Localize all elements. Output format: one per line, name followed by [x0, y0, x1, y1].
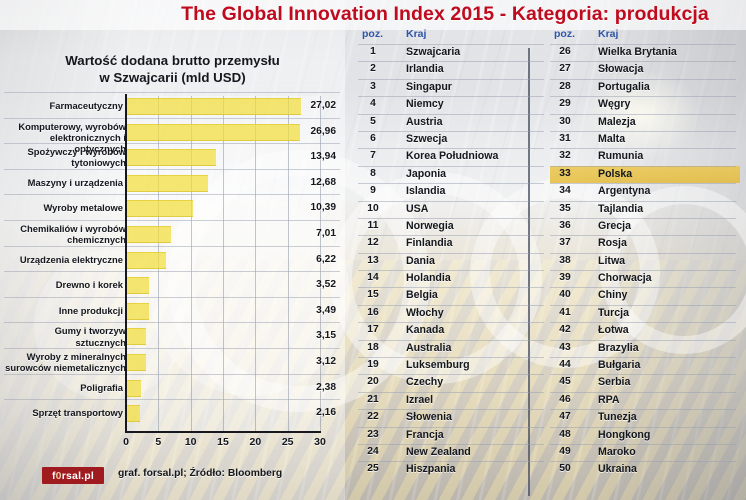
rank-position: 20: [358, 376, 388, 387]
x-axis: [125, 431, 321, 433]
bar-value-label: 3,52: [288, 279, 336, 290]
rank-country: Japonia: [406, 168, 446, 180]
x-tick-label: 30: [314, 436, 326, 448]
ranking-row[interactable]: 23Francja: [358, 427, 548, 444]
row-separator: [4, 246, 340, 247]
page-title: The Global Innovation Index 2015 - Kateg…: [150, 3, 740, 26]
bar: [126, 328, 146, 345]
rank-country: Wielka Brytania: [598, 46, 677, 58]
rank-country: Bułgaria: [598, 359, 640, 371]
bar-value-label: 27,02: [288, 100, 336, 111]
row-separator: [550, 96, 736, 97]
rank-country: Ukraina: [598, 463, 637, 475]
chart-title-line2: w Szwajcarii (mld USD): [10, 69, 335, 86]
rank-position: 35: [550, 203, 580, 214]
bar: [126, 405, 140, 422]
row-separator: [358, 392, 544, 393]
rank-country: Włochy: [406, 307, 444, 319]
rank-position: 9: [358, 185, 388, 196]
row-separator: [550, 79, 736, 80]
row-separator: [358, 270, 544, 271]
ranking-row[interactable]: 33Polska: [550, 166, 740, 183]
rank-position: 34: [550, 185, 580, 196]
rank-country: Hongkong: [598, 429, 650, 441]
bar: [126, 175, 208, 192]
row-separator: [550, 253, 736, 254]
rank-position: 50: [550, 463, 580, 474]
row-separator: [550, 287, 736, 288]
row-separator: [358, 166, 544, 167]
rank-position: 17: [358, 324, 388, 335]
ranking-row[interactable]: 21Izrael: [358, 392, 548, 409]
rank-country: Belgia: [406, 289, 438, 301]
x-tick-label: 15: [217, 436, 229, 448]
ranking-row[interactable]: 19Luksemburg: [358, 357, 548, 374]
ranking-row[interactable]: 42Łotwa: [550, 322, 740, 339]
x-tick-label: 20: [249, 436, 261, 448]
row-separator: [358, 61, 544, 62]
rank-country: Korea Południowa: [406, 150, 498, 162]
x-tick-label: 25: [282, 436, 294, 448]
rank-position: 40: [550, 289, 580, 300]
logo-text-post: rsal.pl: [62, 470, 94, 482]
rank-position: 2: [358, 63, 388, 74]
bar: [126, 252, 166, 269]
ranking-row[interactable]: 32Rumunia: [550, 148, 740, 165]
row-separator: [550, 305, 736, 306]
row-separator: [4, 118, 340, 119]
row-separator: [550, 131, 736, 132]
rank-country: Grecja: [598, 220, 631, 232]
ranking-row[interactable]: 22Słowenia: [358, 409, 548, 426]
bar: [126, 277, 149, 294]
ranking-table-right: poz. Kraj 26Wielka Brytania27Słowacja28P…: [550, 28, 740, 479]
rank-country: Portugalia: [598, 81, 650, 93]
ranking-row[interactable]: 16Włochy: [358, 305, 548, 322]
rank-country: Niemcy: [406, 98, 444, 110]
rank-position: 23: [358, 429, 388, 440]
rank-country: Hiszpania: [406, 463, 455, 475]
rank-country: Łotwa: [598, 324, 629, 336]
row-separator: [550, 322, 736, 323]
ranking-header-right: poz. Kraj: [550, 28, 740, 44]
rank-country: Serbia: [598, 376, 630, 388]
rank-country: Maroko: [598, 446, 636, 458]
bar: [126, 124, 300, 141]
ranking-row[interactable]: 46RPA: [550, 392, 740, 409]
rank-position: 29: [550, 98, 580, 109]
rank-country: Słowacja: [598, 63, 643, 75]
rank-country: Malezja: [598, 116, 636, 128]
y-axis: [125, 94, 127, 433]
bar-category-label: Sprzęt transportowy: [5, 407, 123, 418]
row-separator: [4, 322, 340, 323]
ranking-row[interactable]: 50Ukraina: [550, 461, 740, 478]
rank-country: Szwecja: [406, 133, 447, 145]
gridline: [223, 96, 224, 431]
ranking-row[interactable]: 38Litwa: [550, 253, 740, 270]
ranking-row[interactable]: 27Słowacja: [550, 61, 740, 78]
row-separator: [358, 114, 544, 115]
x-tick-label: 5: [155, 436, 161, 448]
rank-country: Tajlandia: [598, 203, 643, 215]
row-separator: [550, 114, 736, 115]
row-separator: [550, 374, 736, 375]
ranking-row[interactable]: 17Kanada: [358, 322, 548, 339]
row-separator: [358, 183, 544, 184]
row-separator: [358, 253, 544, 254]
rank-country: Brazylia: [598, 342, 639, 354]
rank-country: Chiny: [598, 289, 627, 301]
ranking-row[interactable]: 3Singapur: [358, 79, 548, 96]
ranking-row[interactable]: 25Hiszpania: [358, 461, 548, 478]
rank-position: 1: [358, 46, 388, 57]
rank-position: 12: [358, 237, 388, 248]
bar-value-label: 3,12: [288, 356, 336, 367]
bar-value-label: 12,68: [288, 177, 336, 188]
ranking-row[interactable]: 7Korea Południowa: [358, 148, 548, 165]
ranking-row[interactable]: 24New Zealand: [358, 444, 548, 461]
rank-country: Chorwacja: [598, 272, 652, 284]
ranking-header-left: poz. Kraj: [358, 28, 548, 44]
ranking-row[interactable]: 29Węgry: [550, 96, 740, 113]
ranking-row[interactable]: 18Australia: [358, 340, 548, 357]
row-separator: [550, 392, 736, 393]
rank-position: 47: [550, 411, 580, 422]
row-separator: [358, 201, 544, 202]
ranking-row[interactable]: 49Maroko: [550, 444, 740, 461]
ranking-row[interactable]: 31Malta: [550, 131, 740, 148]
rank-position: 26: [550, 46, 580, 57]
row-separator: [358, 148, 544, 149]
ranking-row[interactable]: 9Islandia: [358, 183, 548, 200]
rank-country: Malta: [598, 133, 625, 145]
bar-chart: Wartość dodana brutto przemysłu w Szwajc…: [0, 48, 345, 458]
chart-title: Wartość dodana brutto przemysłu w Szwajc…: [10, 52, 335, 86]
column-header-country: Kraj: [598, 28, 618, 40]
rank-country: USA: [406, 203, 428, 215]
row-separator: [550, 357, 736, 358]
rank-country: Izrael: [406, 394, 433, 406]
row-separator: [4, 92, 340, 93]
row-separator: [358, 287, 544, 288]
bar: [126, 149, 216, 166]
ranking-row[interactable]: 8Japonia: [358, 166, 548, 183]
row-separator: [358, 444, 544, 445]
row-separator: [550, 270, 736, 271]
bar-category-label: Maszyny i urządzenia: [5, 177, 123, 188]
x-tick-label: 0: [123, 436, 129, 448]
rank-position: 41: [550, 307, 580, 318]
bar-value-label: 7,01: [288, 228, 336, 239]
ranking-row[interactable]: 36Grecja: [550, 218, 740, 235]
row-separator: [4, 348, 340, 349]
rank-position: 43: [550, 342, 580, 353]
column-header-country: Kraj: [406, 28, 426, 40]
plot-area: Farmaceutyczny27,02Komputerowy, wyrobów …: [0, 96, 345, 436]
row-separator: [358, 357, 544, 358]
rank-country: Finlandia: [406, 237, 453, 249]
rank-position: 4: [358, 98, 388, 109]
ranking-row[interactable]: 39Chorwacja: [550, 270, 740, 287]
row-separator: [550, 218, 736, 219]
row-separator: [4, 374, 340, 375]
row-separator: [358, 409, 544, 410]
row-separator: [358, 218, 544, 219]
ranking-row[interactable]: 15Belgia: [358, 287, 548, 304]
rank-country: Kanada: [406, 324, 444, 336]
column-header-position: poz.: [362, 28, 383, 40]
rank-position: 3: [358, 81, 388, 92]
rank-position: 7: [358, 150, 388, 161]
rank-position: 32: [550, 150, 580, 161]
bar-category-label: Poligrafia: [5, 382, 123, 393]
rank-position: 39: [550, 272, 580, 283]
rank-country: Dania: [406, 255, 435, 267]
ranking-row[interactable]: 14Holandia: [358, 270, 548, 287]
rank-position: 19: [358, 359, 388, 370]
rank-country: Węgry: [598, 98, 630, 110]
row-separator: [550, 235, 736, 236]
rank-country: Austria: [406, 116, 443, 128]
ranking-row[interactable]: 1Szwajcaria: [358, 44, 548, 61]
row-separator: [358, 340, 544, 341]
rank-country: New Zealand: [406, 446, 471, 458]
rank-position: 28: [550, 81, 580, 92]
bar-category-label: Wyroby metalowe: [5, 202, 123, 213]
rank-position: 14: [358, 272, 388, 283]
bar-value-label: 2,38: [288, 382, 336, 393]
rank-position: 11: [358, 220, 388, 231]
rank-country: Singapur: [406, 81, 452, 93]
ranking-row[interactable]: 48Hongkong: [550, 427, 740, 444]
rank-position: 37: [550, 237, 580, 248]
rank-country: Litwa: [598, 255, 625, 267]
ranking-row[interactable]: 45Serbia: [550, 374, 740, 391]
row-separator: [550, 409, 736, 410]
row-separator: [358, 79, 544, 80]
bar: [126, 226, 171, 243]
ranking-row[interactable]: 28Portugalia: [550, 79, 740, 96]
bar-category-label: Urządzenia elektryczne: [5, 254, 123, 265]
rank-position: 36: [550, 220, 580, 231]
row-separator: [550, 61, 736, 62]
rank-country: Rumunia: [598, 150, 643, 162]
row-separator: [550, 427, 736, 428]
row-separator: [358, 131, 544, 132]
ranking-row[interactable]: 37Rosja: [550, 235, 740, 252]
row-separator: [358, 461, 544, 462]
row-separator: [550, 44, 736, 45]
rank-position: 21: [358, 394, 388, 405]
rank-country: RPA: [598, 394, 620, 406]
ranking-row[interactable]: 11Norwegia: [358, 218, 548, 235]
row-separator: [550, 148, 736, 149]
rank-position: 18: [358, 342, 388, 353]
rank-country: Rosja: [598, 237, 627, 249]
row-separator: [4, 143, 340, 144]
chart-title-line1: Wartość dodana brutto przemysłu: [10, 52, 335, 69]
row-separator: [358, 96, 544, 97]
bar-category-label: Drewno i korek: [5, 279, 123, 290]
rank-country: Argentyna: [598, 185, 650, 197]
bar: [126, 303, 149, 320]
row-separator: [358, 44, 544, 45]
rank-position: 49: [550, 446, 580, 457]
forsal-logo[interactable]: f0rsal.pl: [42, 467, 104, 484]
rank-country: Francja: [406, 429, 444, 441]
rank-country: Irlandia: [406, 63, 444, 75]
rank-position: 44: [550, 359, 580, 370]
ranking-row[interactable]: 5Austria: [358, 114, 548, 131]
column-header-position: poz.: [554, 28, 575, 40]
rank-country: Czechy: [406, 376, 443, 388]
bar-value-label: 6,22: [288, 254, 336, 265]
rank-country: Islandia: [406, 185, 445, 197]
rank-country: Tunezja: [598, 411, 637, 423]
rank-position: 15: [358, 289, 388, 300]
bar-value-label: 3,15: [288, 330, 336, 341]
ranking-table-left: poz. Kraj 1Szwajcaria2Irlandia3Singapur4…: [358, 28, 548, 479]
rank-position: 46: [550, 394, 580, 405]
bar-value-label: 3,49: [288, 305, 336, 316]
row-separator: [4, 220, 340, 221]
rank-country: Holandia: [406, 272, 451, 284]
bar: [126, 380, 141, 397]
chart-footer: f0rsal.pl graf. forsal.pl; Źródło: Bloom…: [0, 460, 345, 500]
ranking-row[interactable]: 10USA: [358, 201, 548, 218]
row-separator: [358, 374, 544, 375]
bar: [126, 98, 301, 115]
rank-position: 48: [550, 429, 580, 440]
bar-category-label: Farmaceutyczny: [5, 100, 123, 111]
rank-position: 33: [550, 168, 580, 179]
ranking-row[interactable]: 34Argentyna: [550, 183, 740, 200]
ranking-row[interactable]: 26Wielka Brytania: [550, 44, 740, 61]
source-credit: graf. forsal.pl; Źródło: Bloomberg: [118, 468, 282, 479]
rank-country: Norwegia: [406, 220, 454, 232]
row-separator: [4, 297, 340, 298]
bar-category-label: Wyroby z mineralnych surowców niemetalic…: [2, 351, 126, 373]
rank-position: 8: [358, 168, 388, 179]
rank-country: Szwajcaria: [406, 46, 460, 58]
rank-country: Polska: [598, 168, 632, 180]
ranking-row[interactable]: 20Czechy: [358, 374, 548, 391]
bar-category-label: Gumy i tworzyw sztucznych: [2, 325, 126, 347]
ranking-row[interactable]: 43Brazylia: [550, 340, 740, 357]
bar: [126, 354, 146, 371]
rank-country: Słowenia: [406, 411, 452, 423]
row-separator: [550, 340, 736, 341]
ranking-row[interactable]: 41Turcja: [550, 305, 740, 322]
row-separator: [358, 322, 544, 323]
rank-country: Australia: [406, 342, 451, 354]
bar-value-label: 2,16: [288, 407, 336, 418]
bar: [126, 200, 193, 217]
bar-category-label: Spożywczy i wyrobów tytoniowych: [2, 146, 126, 168]
ranking-row[interactable]: 44Bułgaria: [550, 357, 740, 374]
rank-position: 45: [550, 376, 580, 387]
row-separator: [550, 166, 736, 167]
gridline: [255, 96, 256, 431]
ranking-row[interactable]: 30Malezja: [550, 114, 740, 131]
row-separator: [550, 461, 736, 462]
rank-position: 13: [358, 255, 388, 266]
row-separator: [550, 444, 736, 445]
rank-position: 30: [550, 116, 580, 127]
row-separator: [4, 271, 340, 272]
rank-position: 6: [358, 133, 388, 144]
rank-position: 25: [358, 463, 388, 474]
row-separator: [4, 399, 340, 400]
rank-position: 22: [358, 411, 388, 422]
row-separator: [358, 427, 544, 428]
rank-position: 42: [550, 324, 580, 335]
ranking-row[interactable]: 6Szwecja: [358, 131, 548, 148]
row-separator: [358, 305, 544, 306]
bar-category-label: Inne produkcji: [5, 305, 123, 316]
ranking-row[interactable]: 35Tajlandia: [550, 201, 740, 218]
bar-value-label: 26,96: [288, 126, 336, 137]
gridline: [191, 96, 192, 431]
rank-position: 10: [358, 203, 388, 214]
row-separator: [550, 201, 736, 202]
rank-position: 24: [358, 446, 388, 457]
rank-position: 16: [358, 307, 388, 318]
row-separator: [4, 169, 340, 170]
x-tick-label: 10: [185, 436, 197, 448]
row-separator: [358, 235, 544, 236]
rank-position: 5: [358, 116, 388, 127]
rank-position: 38: [550, 255, 580, 266]
row-separator: [4, 194, 340, 195]
ranking-row[interactable]: 40Chiny: [550, 287, 740, 304]
bar-value-label: 10,39: [288, 202, 336, 213]
rank-position: 31: [550, 133, 580, 144]
bar-value-label: 13,94: [288, 151, 336, 162]
row-separator: [550, 183, 736, 184]
bar-category-label: Chemikaliów i wyrobów chemicznych: [2, 223, 126, 245]
rank-position: 27: [550, 63, 580, 74]
ranking-row[interactable]: 13Dania: [358, 253, 548, 270]
ranking-row[interactable]: 4Niemcy: [358, 96, 548, 113]
rank-country: Turcja: [598, 307, 629, 319]
ranking-row[interactable]: 2Irlandia: [358, 61, 548, 78]
rank-country: Luksemburg: [406, 359, 470, 371]
ranking-row[interactable]: 12Finlandia: [358, 235, 548, 252]
ranking-row[interactable]: 47Tunezja: [550, 409, 740, 426]
